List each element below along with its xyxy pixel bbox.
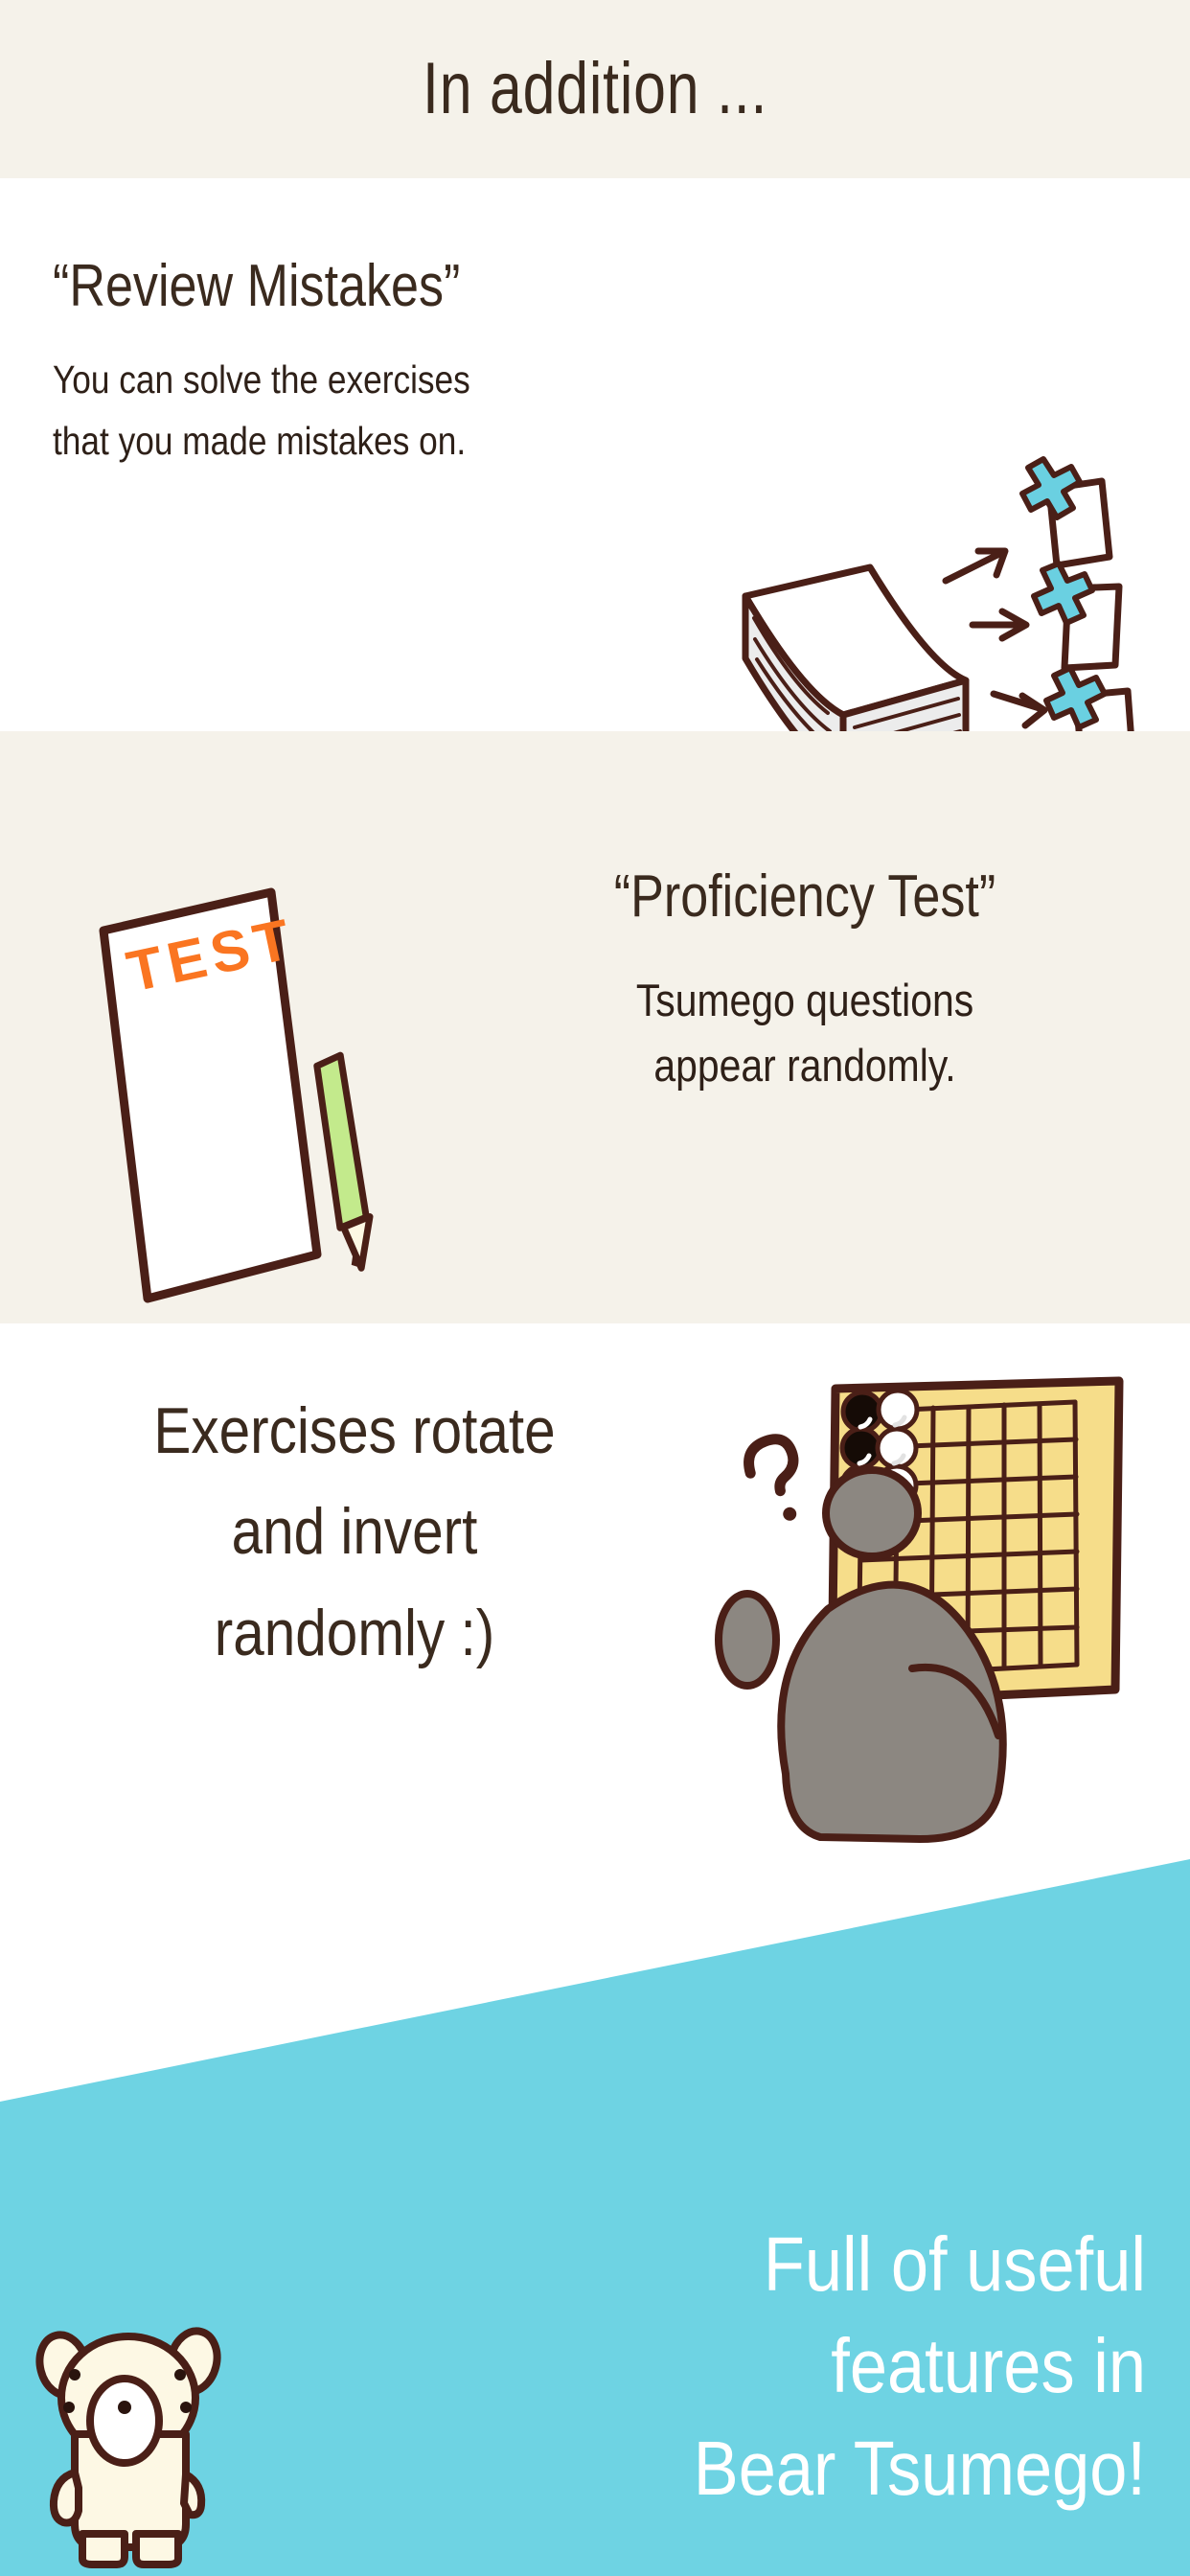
- section-review-mistakes: “Review Mistakes” You can solve the exer…: [0, 178, 1190, 731]
- bear-muzzle: [90, 2379, 159, 2463]
- mistake-x-icon-2: [1034, 563, 1092, 623]
- app-promo-page: In addition ... “Review Mistakes” You ca…: [0, 0, 1190, 2576]
- question-mark-icon: [742, 1434, 813, 1528]
- banner-line-1: Full of useful: [505, 2214, 1146, 2315]
- marked-paper-1: [1022, 459, 1110, 565]
- mistake-x-icon-1: [1022, 459, 1080, 517]
- banner-line-3: Bear Tsumego!: [505, 2418, 1146, 2519]
- proficiency-test-heading: “Proficiency Test”: [515, 865, 1095, 928]
- review-mistakes-body-line-1: You can solve the exercises: [53, 350, 621, 411]
- section-review-mistakes-text: “Review Mistakes” You can solve the exer…: [53, 255, 714, 471]
- review-mistakes-body: You can solve the exercises that you mad…: [53, 350, 621, 471]
- proficiency-test-body: Tsumego questions appear randomly.: [505, 968, 1105, 1098]
- mistake-x-icon-3: [1046, 668, 1105, 727]
- pencil-icon: [311, 1054, 372, 1268]
- header-band: In addition ...: [0, 0, 1190, 178]
- bear-leg-left: [82, 2534, 125, 2564]
- gray-bear-viewing-go-board-illustration: [728, 1352, 1179, 1851]
- section-proficiency-test: TEST “Proficiency Test” Tsumego question…: [0, 731, 1190, 1323]
- review-mistakes-body-line-2: that you made mistakes on.: [53, 411, 621, 472]
- section-proficiency-test-text: “Proficiency Test” Tsumego questions app…: [460, 865, 1150, 1098]
- rotate-invert-line-2: and invert: [66, 1482, 643, 1582]
- page-title: In addition ...: [423, 53, 767, 126]
- bear-mascot: [29, 2319, 240, 2568]
- review-mistakes-heading: “Review Mistakes”: [53, 255, 608, 317]
- bear-arm-pointing: [54, 2472, 79, 2523]
- bear-arm-right: [184, 2474, 201, 2515]
- proficiency-test-body-line-2: appear randomly.: [505, 1033, 1105, 1098]
- marked-paper-2: [1034, 563, 1119, 668]
- proficiency-test-body-line-1: Tsumego questions: [505, 968, 1105, 1033]
- banner-text: Full of useful features in Bear Tsumego!: [418, 2214, 1146, 2519]
- section-rotate-invert-text: Exercises rotate and invert randomly :): [19, 1381, 690, 1684]
- rotate-invert-line-1: Exercises rotate: [66, 1381, 643, 1482]
- banner-line-2: features in: [505, 2315, 1146, 2417]
- rotate-invert-line-3: randomly :): [66, 1583, 643, 1684]
- bear-leg-right: [136, 2534, 178, 2564]
- section-rotate-invert: Exercises rotate and invert randomly :): [0, 1323, 1190, 1860]
